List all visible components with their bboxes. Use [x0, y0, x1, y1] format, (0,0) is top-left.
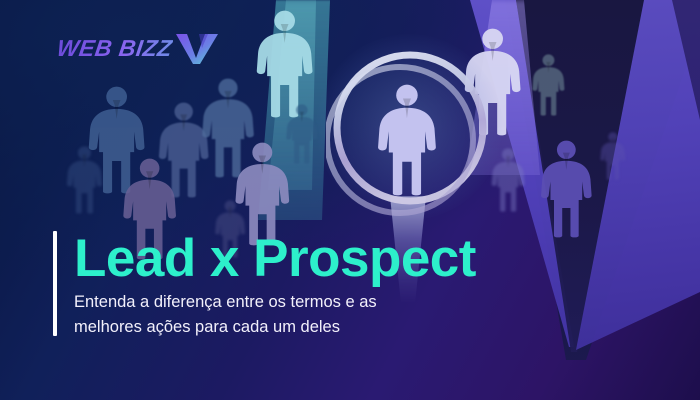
- page-subtitle: Entenda a diferença entre os termos e as…: [74, 290, 377, 340]
- person-icon: [249, 10, 320, 118]
- focus-person-icon: [370, 84, 444, 196]
- person-icon: [534, 140, 599, 238]
- banner: WEB BIZZ Lead x Prospect Entenda a difer…: [0, 0, 700, 400]
- person-icon: [528, 54, 569, 116]
- person-icon: [597, 132, 629, 180]
- logo[interactable]: WEB BIZZ: [57, 30, 219, 66]
- logo-text: WEB BIZZ: [55, 35, 174, 62]
- accent-bar: [53, 231, 57, 336]
- w-monogram-icon: [175, 31, 219, 65]
- page-title: Lead x Prospect: [74, 229, 476, 289]
